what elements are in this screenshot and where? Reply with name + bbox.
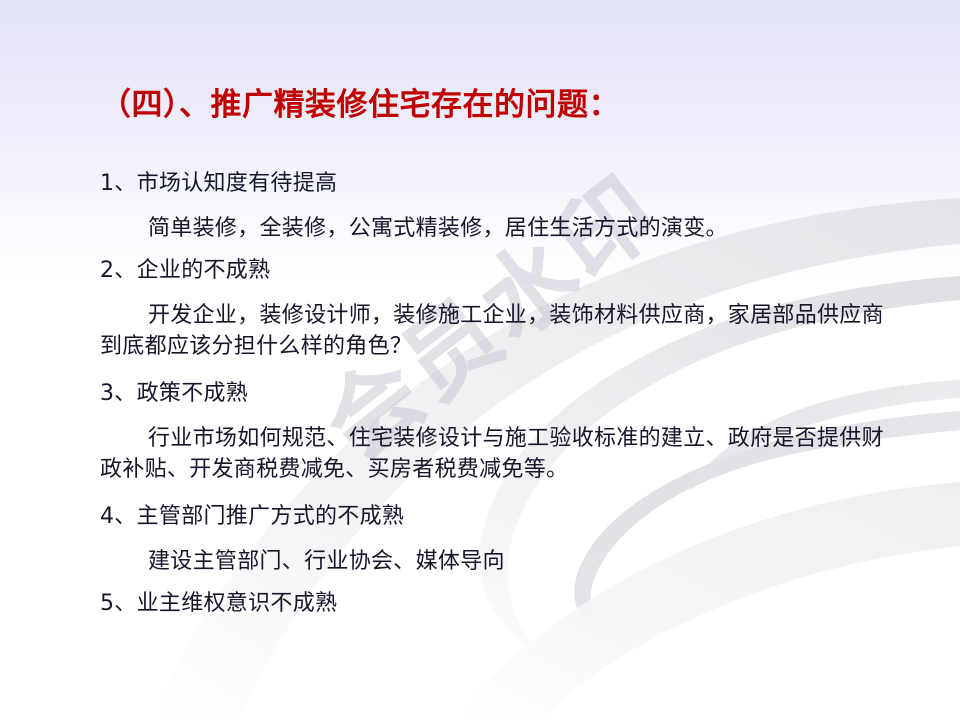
slide-content: （四）、推广精装修住宅存在的问题： 1、市场认知度有待提高 简单装修，全装修，公… xyxy=(0,0,960,720)
list-item: 1、市场认知度有待提高 简单装修，全装修，公寓式精装修，居住生活方式的演变。 xyxy=(100,162,890,244)
list-item-heading: 4、主管部门推广方式的不成熟 xyxy=(100,495,890,539)
presentation-slide: 会员水印 （四）、推广精装修住宅存在的问题： 1、市场认知度有待提高 简单装修，… xyxy=(0,0,960,720)
bullet-list: 1、市场认知度有待提高 简单装修，全装修，公寓式精装修，居住生活方式的演变。 2… xyxy=(100,162,890,626)
list-item: 2、企业的不成熟 开发企业，装修设计师，装修施工企业，装饰材料供应商，家居部品供… xyxy=(100,249,890,362)
list-item: 5、业主维权意识不成熟 xyxy=(100,582,890,626)
list-item-heading: 1、市场认知度有待提高 xyxy=(100,162,890,206)
list-item-detail: 建设主管部门、行业协会、媒体导向 xyxy=(100,546,890,577)
list-item: 4、主管部门推广方式的不成熟 建设主管部门、行业协会、媒体导向 xyxy=(100,495,890,577)
list-item-heading: 5、业主维权意识不成熟 xyxy=(100,582,890,626)
list-item: 3、政策不成熟 行业市场如何规范、住宅装修设计与施工验收标准的建立、政府是否提供… xyxy=(100,372,890,485)
list-item-detail: 简单装修，全装修，公寓式精装修，居住生活方式的演变。 xyxy=(100,213,890,244)
list-item-detail: 开发企业，装修设计师，装修施工企业，装饰材料供应商，家居部品供应商到底都应该分担… xyxy=(100,300,890,362)
list-item-heading: 2、企业的不成熟 xyxy=(100,249,890,293)
list-item-detail: 行业市场如何规范、住宅装修设计与施工验收标准的建立、政府是否提供财政补贴、开发商… xyxy=(100,423,890,485)
page-title: （四）、推广精装修住宅存在的问题： xyxy=(100,79,620,124)
list-item-heading: 3、政策不成熟 xyxy=(100,372,890,416)
